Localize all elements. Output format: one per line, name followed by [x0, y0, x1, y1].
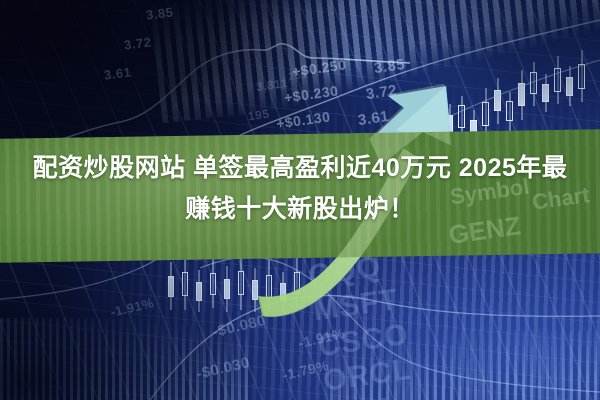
headline-line-1: 配资炒股网站 单签最高盈利近40万元 2025年最	[33, 154, 568, 182]
headline-line-2: 赚钱十大新股出炉！	[0, 189, 600, 230]
banner-image: 3.85 3.72 3.61 3.85 3.72 3.61 +$0.250 +$…	[0, 0, 600, 400]
headline-text: 配资炒股网站 单签最高盈利近40万元 2025年最 赚钱十大新股出炉！	[0, 148, 600, 230]
